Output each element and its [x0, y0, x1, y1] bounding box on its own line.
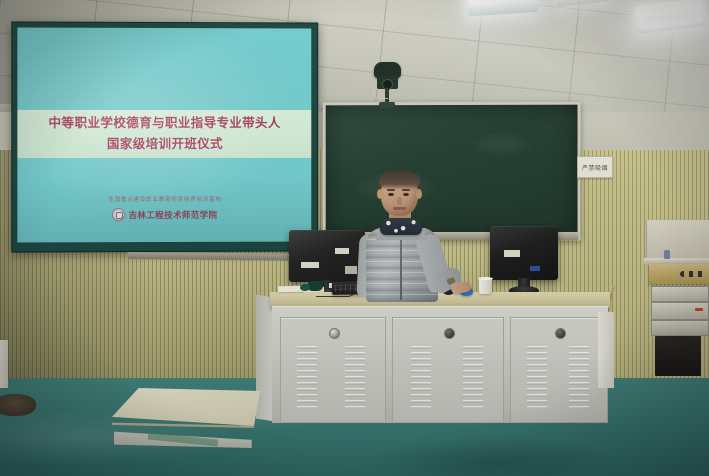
monitor-panel: [490, 226, 558, 280]
cabinet-door[interactable]: [280, 317, 386, 423]
ear-left: [377, 189, 383, 199]
eye-left: [388, 193, 394, 196]
left-white-panel: [0, 340, 8, 388]
cabinet-lock[interactable]: [329, 328, 340, 339]
person-speaker: [352, 172, 472, 304]
platform-top: [112, 388, 260, 426]
rack-wood-top: [649, 264, 709, 284]
vent-slots: [345, 346, 365, 408]
wall-sign-text: 严禁吸烟: [582, 163, 608, 172]
podium-right-pillar: [598, 312, 614, 388]
projection-screen: 中等职业学校德育与职业指导专业带头人 国家级培训开班仪式 全国重点建设职业教育师…: [11, 21, 318, 252]
light-tube: [470, 0, 536, 4]
eyebrow-right: [402, 189, 410, 191]
cabinet-lock[interactable]: [444, 328, 455, 339]
power-led: [695, 308, 703, 311]
vent-slots: [527, 346, 547, 408]
slide-title-line-2: 国家级培训开班仪式: [17, 133, 311, 154]
nose: [397, 197, 402, 205]
monitor-sticker: [504, 250, 520, 257]
eye-right: [403, 193, 409, 196]
vent-slots: [297, 346, 317, 408]
vent-slots: [569, 346, 589, 408]
cabinet-lock[interactable]: [555, 328, 566, 339]
microphone-body: [300, 284, 310, 291]
audio-equipment-rack: [649, 264, 709, 376]
monitor-sticker: [301, 262, 319, 268]
rack-knobs: [680, 271, 706, 277]
projected-slide: 中等职业学校德育与职业指导专业带头人 国家级培训开班仪式 全国重点建设职业教育师…: [17, 27, 311, 242]
vent-slots: [463, 346, 483, 408]
rack-unit: [651, 320, 709, 336]
classroom-photo: 中等职业学校德育与职业指导专业带头人 国家级培训开班仪式 全国重点建设职业教育师…: [0, 0, 709, 476]
floor-step-platform: [112, 388, 260, 450]
vent-slots: [411, 346, 431, 408]
wall-camera-icon: [370, 62, 406, 108]
right-shelf-panel: [646, 220, 709, 260]
slide-subtitle: 全国重点建设职业教育师资培养培训基地: [17, 195, 311, 204]
seal-emblem-icon: [112, 208, 125, 221]
av-podium-console: [270, 292, 610, 422]
rack-unit: [651, 286, 709, 302]
slide-organization: 吉林工程技术师范学院: [17, 208, 311, 222]
patterned-scarf: [380, 218, 422, 235]
ear-right: [416, 189, 422, 199]
jacket-zipper: [400, 230, 402, 300]
mouth: [393, 207, 406, 210]
slide-title-line-1: 中等职业学校德育与职业指导专业带头人: [17, 112, 311, 133]
right-hand: [450, 280, 472, 294]
floor-object: [0, 394, 36, 416]
computer-monitor: [490, 226, 558, 296]
subwoofer: [655, 336, 701, 376]
organization-name: 吉林工程技术师范学院: [128, 208, 217, 220]
cabinet-door[interactable]: [510, 317, 608, 423]
rack-unit: [651, 302, 709, 320]
wall-sign: 严禁吸烟: [577, 156, 613, 178]
podium-front: [272, 306, 608, 423]
paper-cup: [479, 278, 492, 294]
monitor-sticker: [335, 248, 349, 254]
monitor-port-label: [530, 266, 540, 271]
hair: [379, 170, 420, 190]
camera-mount: [379, 102, 395, 108]
cabinet-door[interactable]: [392, 317, 504, 423]
camera-cable: [373, 86, 388, 99]
bottle: [664, 250, 670, 259]
eyebrow-left: [387, 189, 395, 191]
